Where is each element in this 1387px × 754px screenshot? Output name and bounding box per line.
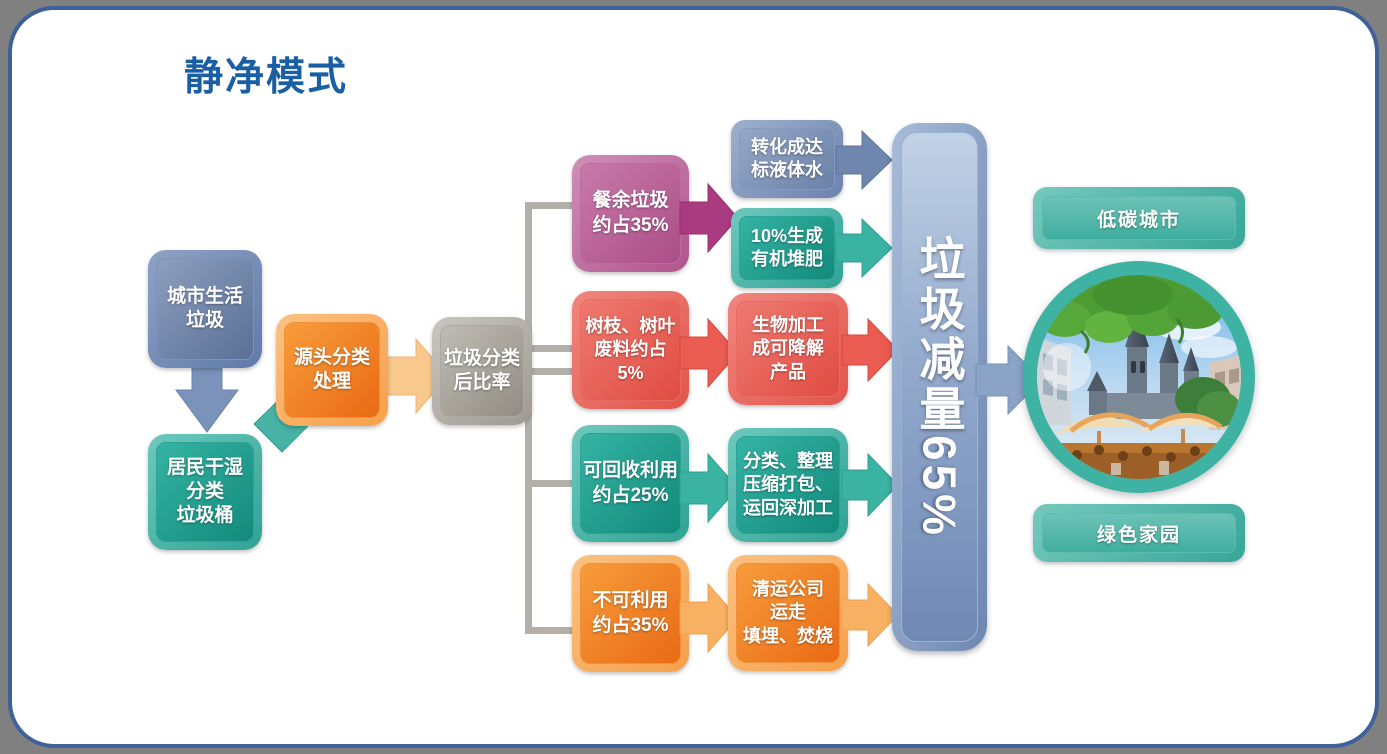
node-biodegradable[interactable]: 生物加工 成可降解 产品 [728, 293, 848, 405]
arrow-organic-compost [834, 216, 894, 280]
kitchen-waste-line-2: 约占35% [592, 214, 668, 238]
node-resident-bins[interactable]: 居民干湿 分类 垃圾桶 [148, 434, 262, 550]
recyclable-line-2: 约占25% [592, 484, 668, 508]
organic-compost-line-1: 10%生成 [751, 225, 823, 248]
biodegradable-line-2: 成可降解 [752, 337, 824, 360]
node-haul-landfill[interactable]: 清运公司 运走 填埋、焚烧 [728, 555, 848, 671]
biodegradable-line-1: 生物加工 [752, 314, 824, 337]
waste-reduction-face: 垃圾减量65% [901, 132, 978, 642]
city-square-photo [1023, 261, 1255, 493]
sort-compress-line-1: 分类、整理 [743, 450, 833, 473]
node-kitchen-waste[interactable]: 餐余垃圾 约占35% [572, 155, 689, 272]
low-carbon-city-label: 低碳城市 [1042, 196, 1236, 240]
sort-compress-line-2: 压缩打包、 [743, 473, 833, 496]
non-usable-line-2: 约占35% [592, 614, 668, 638]
node-sort-compress[interactable]: 分类、整理 压缩打包、 运回深加工 [728, 428, 848, 542]
page-title: 静净模式 [184, 46, 348, 102]
waste-reduction-text: 垃圾减量65% [917, 235, 963, 539]
ratio-line-2: 后比率 [453, 371, 510, 395]
node-branch-leaf-waste[interactable]: 树枝、树叶 废料约占 5% [572, 291, 689, 409]
arrow-sort-compress [840, 450, 900, 520]
node-non-usable[interactable]: 不可利用 约占35% [572, 555, 689, 672]
arrow-haul-landfill [840, 580, 900, 650]
node-post-sort-ratio[interactable]: 垃圾分类 后比率 [432, 317, 532, 425]
haul-landfill-line-3: 填埋、焚烧 [743, 625, 833, 648]
liquid-water-line-1: 转化成达 [751, 136, 823, 159]
pill-green-home[interactable]: 绿色家园 [1033, 504, 1245, 562]
node-source-sorting[interactable]: 源头分类 处理 [276, 314, 388, 426]
node-liquid-water[interactable]: 转化成达 标液体水 [731, 120, 843, 198]
non-usable-line-1: 不可利用 [592, 589, 668, 613]
node-organic-compost[interactable]: 10%生成 有机堆肥 [731, 208, 843, 288]
haul-landfill-line-2: 运走 [770, 601, 806, 624]
sort-compress-line-3: 运回深加工 [743, 497, 833, 520]
organic-compost-line-2: 有机堆肥 [751, 248, 823, 271]
resident-bins-line-3: 垃圾桶 [176, 504, 233, 528]
resident-bins-line-2: 分类 [186, 480, 224, 504]
arrow-liquid-water [834, 128, 894, 192]
liquid-water-line-2: 标液体水 [751, 159, 823, 182]
city-waste-line-1: 城市生活 [167, 285, 243, 309]
source-sorting-line-2: 处理 [313, 370, 351, 394]
city-square-photo-image [1037, 275, 1241, 479]
biodegradable-line-3: 产品 [770, 361, 806, 384]
branch-leaf-line-3: 5% [617, 362, 643, 385]
haul-landfill-line-1: 清运公司 [752, 578, 824, 601]
node-city-waste[interactable]: 城市生活 垃圾 [148, 250, 262, 368]
resident-bins-line-1: 居民干湿 [167, 456, 243, 480]
waste-reduction-bar[interactable]: 垃圾减量65% [892, 123, 987, 651]
node-recyclable[interactable]: 可回收利用 约占25% [572, 425, 689, 542]
pill-low-carbon-city[interactable]: 低碳城市 [1033, 187, 1245, 249]
slide-canvas: 静净模式 城市生活 垃圾 居民干湿 分类 垃圾桶 源头分类 处理 [8, 6, 1379, 748]
arrow-biodegradable [840, 315, 900, 385]
city-waste-line-2: 垃圾 [186, 309, 224, 333]
ratio-line-1: 垃圾分类 [444, 347, 520, 371]
branch-leaf-line-2: 废料约占 [595, 338, 667, 361]
green-home-label: 绿色家园 [1042, 513, 1236, 553]
kitchen-waste-line-1: 餐余垃圾 [592, 189, 668, 213]
recyclable-line-1: 可回收利用 [583, 459, 678, 483]
branch-leaf-line-1: 树枝、树叶 [586, 315, 676, 338]
source-sorting-line-1: 源头分类 [294, 346, 370, 370]
